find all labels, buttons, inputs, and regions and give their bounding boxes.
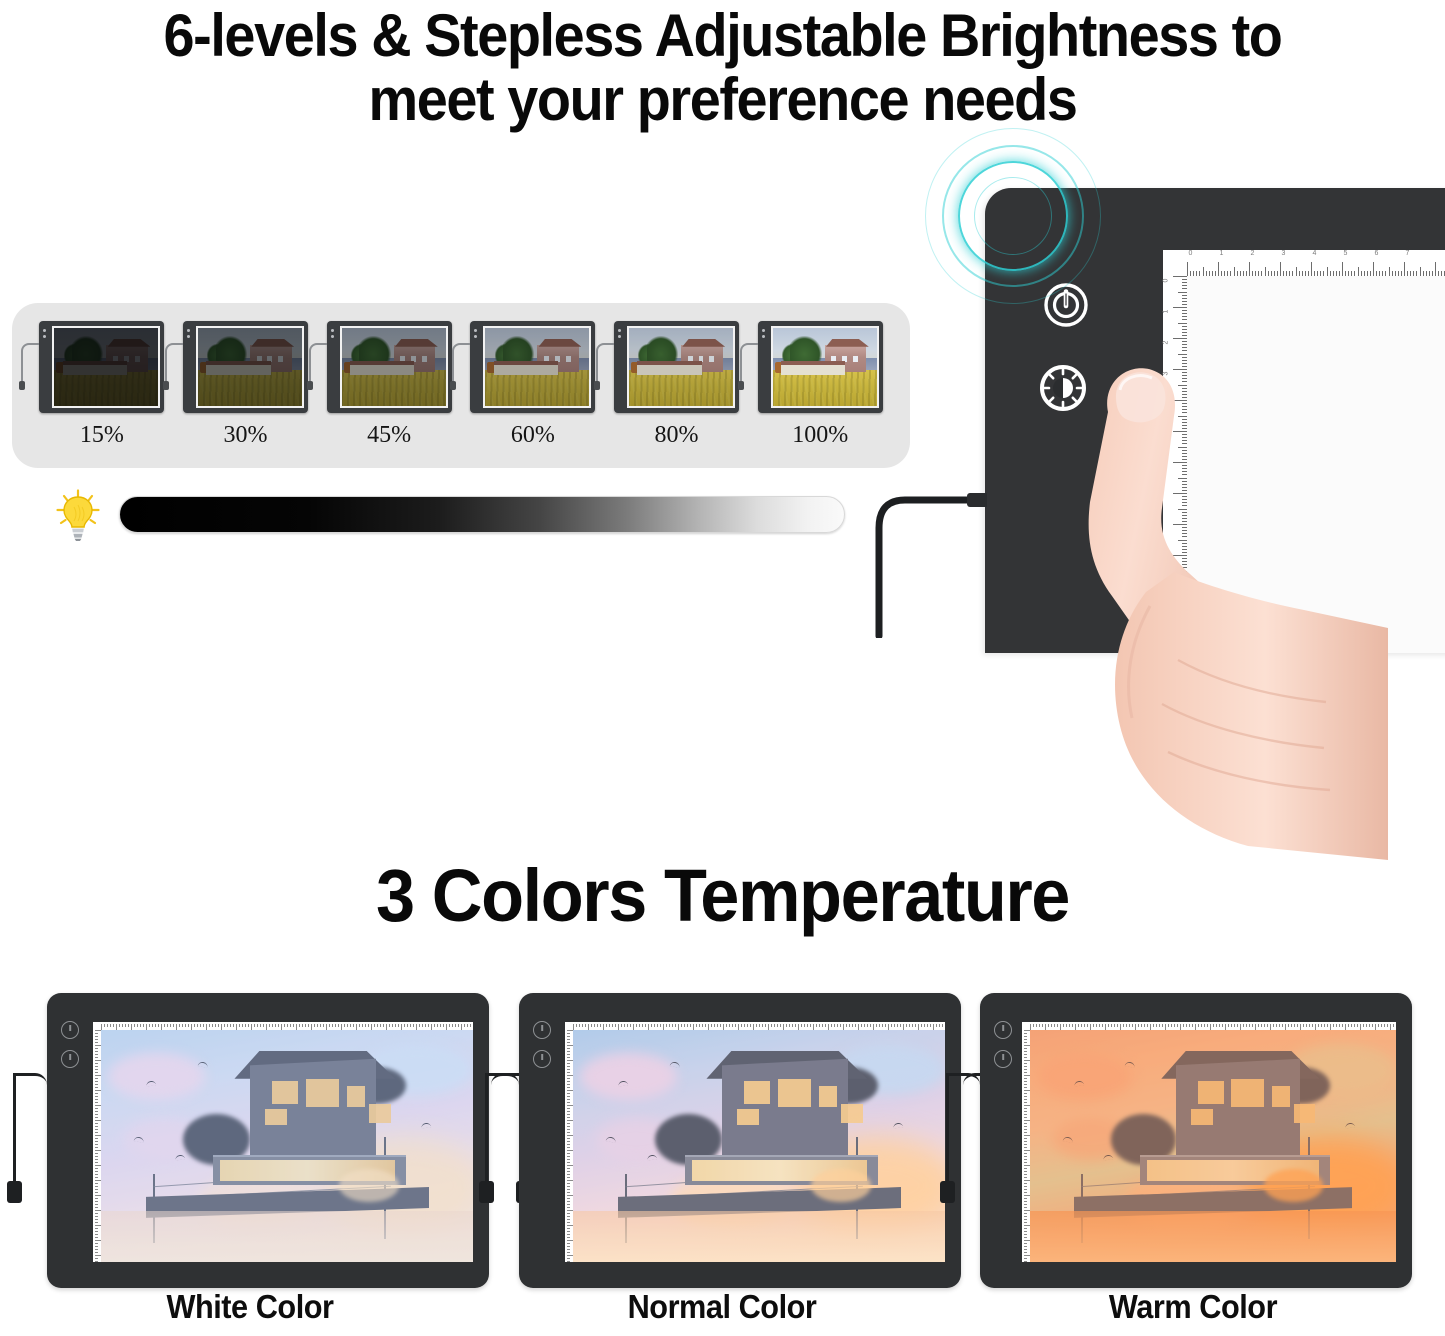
ruler-tick [729, 1024, 730, 1027]
ruler-tick [95, 1261, 98, 1262]
ruler-tick [1120, 1024, 1121, 1030]
ruler-tick [317, 1024, 318, 1027]
ruler-tick [687, 1024, 688, 1027]
ruler-tick [1373, 262, 1374, 276]
artwork-illustration [101, 1030, 473, 1262]
ruler-tick [95, 1120, 101, 1121]
ruler-tick [230, 1024, 231, 1027]
ruler-tick [1249, 1024, 1250, 1027]
ruler-tick [1075, 1024, 1076, 1030]
ruler-tick [206, 1024, 207, 1030]
ruler-tick [1382, 271, 1383, 276]
ruler-tick [1294, 1024, 1295, 1027]
ruler-tick [1024, 1072, 1027, 1073]
ruler-tick [200, 1024, 201, 1027]
ruler-tick [567, 1204, 570, 1205]
ruler-tick [567, 1246, 570, 1247]
ruler-tick [275, 1024, 276, 1027]
ruler-tick [1024, 1237, 1027, 1238]
ruler-tick [567, 1114, 570, 1115]
ruler-tick [678, 1024, 679, 1030]
ruler-tick [1111, 1024, 1112, 1027]
ruler-tick [1150, 1024, 1151, 1030]
hand-pointing [1058, 360, 1388, 860]
ruler-tick [182, 1024, 183, 1027]
ruler-tick [296, 1024, 297, 1030]
ruler-tick [299, 1024, 300, 1027]
ruler-tick [1147, 1024, 1148, 1027]
ruler-tick [1279, 1024, 1280, 1027]
ruler-tick [1045, 1024, 1046, 1030]
ruler-tick [1024, 1063, 1027, 1064]
ruler-tick [639, 1024, 640, 1027]
brightness-slider-row[interactable] [55, 487, 845, 542]
ruler-tick [458, 1024, 459, 1027]
ruler-tick [1024, 1261, 1027, 1262]
ruler-tick [768, 1024, 769, 1030]
ruler-tick [912, 1024, 913, 1027]
ruler-tick [1381, 1024, 1382, 1027]
ruler-tick [1024, 1075, 1030, 1076]
ruler-tick [95, 1141, 98, 1142]
ruler-tick [594, 1024, 595, 1027]
ruler-tick [1189, 1024, 1190, 1027]
ruler-tick [567, 1066, 570, 1067]
ruler-tick [567, 1132, 570, 1133]
mini-control-dots [187, 329, 190, 341]
ruler-tick [125, 1024, 126, 1027]
ruler-tick [185, 1024, 186, 1027]
ruler-tick [684, 1024, 685, 1027]
ruler-tick [567, 1258, 570, 1259]
ruler-tick [446, 1024, 447, 1030]
ruler-tick [1330, 271, 1331, 276]
ruler-tick [885, 1024, 886, 1027]
ruler-tick [567, 1243, 570, 1244]
ruler-tick [113, 1024, 114, 1027]
power-button-small[interactable] [994, 1050, 1012, 1068]
ruler-tick [828, 1024, 829, 1030]
ruler-tick [1024, 1120, 1030, 1121]
ruler-tick [618, 1024, 619, 1030]
ruler-tick [1219, 1024, 1220, 1027]
brightness-veil [485, 328, 589, 406]
ruler-tick [567, 1075, 573, 1076]
brightness-levels-card: 15%30%45%60%80%100% [12, 303, 910, 468]
ruler-tick [1336, 271, 1337, 276]
ruler-tick [1351, 271, 1352, 276]
ruler-tick [155, 1024, 156, 1027]
ruler-number: 0 [1162, 279, 1169, 283]
ruler-tick [852, 1024, 853, 1027]
ruler-tick [362, 1024, 363, 1027]
ruler-tick [615, 1024, 616, 1027]
ruler-tick [1318, 1024, 1319, 1027]
ruler-tick [1234, 267, 1235, 276]
ruler-tick [1273, 1024, 1274, 1027]
ruler-tick [1392, 271, 1393, 276]
ruler-tick [1024, 1066, 1027, 1067]
brightness-level-80: 80% [605, 321, 749, 448]
brightness-slider-track[interactable] [119, 496, 845, 533]
ruler-tick [95, 1198, 98, 1199]
ruler-tick [645, 1024, 646, 1027]
ruler-tick [1311, 262, 1312, 276]
ruler-tick [1222, 1024, 1223, 1027]
ruler-tick [1024, 1213, 1027, 1214]
brightness-button-small[interactable] [61, 1021, 79, 1039]
ruler-tick [95, 1249, 98, 1250]
ruler-tick [1274, 271, 1275, 276]
ruler-tick [191, 1024, 192, 1030]
ruler-tick [582, 1024, 583, 1027]
mini-cable-icon [596, 343, 614, 385]
ruler-tick [591, 1024, 592, 1027]
ruler-tick [891, 1024, 892, 1027]
ruler-tick [1345, 1024, 1346, 1030]
ruler-tick [1215, 271, 1216, 276]
ruler-tick [95, 1252, 98, 1253]
power-button-small[interactable] [533, 1050, 551, 1068]
ruler-tick [1024, 1144, 1027, 1145]
ruler-tick [1407, 271, 1408, 276]
ruler-tick [1183, 1024, 1184, 1027]
ruler-tick [1126, 1024, 1127, 1027]
ruler-tick [1182, 347, 1187, 348]
ruler-tick [762, 1024, 763, 1027]
ruler-tick [567, 1207, 570, 1208]
ruler-tick [443, 1024, 444, 1027]
ruler-tick [311, 1024, 312, 1030]
ruler-tick [377, 1024, 378, 1027]
ruler-tick [705, 1024, 706, 1027]
ruler-tick [95, 1180, 101, 1181]
ruler-tick [660, 1024, 661, 1027]
ruler-tick [1024, 1243, 1027, 1244]
ruler-tick [672, 1024, 673, 1027]
ruler-tick [428, 1024, 429, 1027]
ruler-tick [437, 1024, 438, 1027]
ruler-tick [693, 1024, 694, 1030]
ruler-tick [1321, 1024, 1322, 1027]
ruler-tick [137, 1024, 138, 1027]
mini-screen [196, 326, 304, 408]
tablet-buttons[interactable] [61, 1021, 79, 1079]
ruler-tick [630, 1024, 631, 1027]
ruler-tick [1108, 1024, 1109, 1027]
mini-cable-icon [165, 343, 183, 385]
ruler-tick [1389, 267, 1390, 276]
ruler-tick [95, 1177, 98, 1178]
ruler-tick [1306, 1024, 1307, 1027]
ruler-tick [1288, 1024, 1289, 1027]
color-temperature-label: Normal Color [503, 1288, 940, 1326]
ruler-tick [1237, 1024, 1238, 1027]
ruler-tick [567, 1198, 570, 1199]
ruler-tick [245, 1024, 246, 1027]
ruler-tick [1401, 271, 1402, 276]
ruler-tick [696, 1024, 697, 1027]
ruler-tick [567, 1117, 570, 1118]
ruler-tick [95, 1114, 98, 1115]
ruler-tick [395, 1024, 396, 1027]
ruler-tick [771, 1024, 772, 1027]
ruler-tick [567, 1060, 573, 1061]
color-temperature-panel-normal: Normal Color [487, 988, 957, 1336]
ruler-tick [567, 1039, 570, 1040]
ruler-tick [152, 1024, 153, 1027]
ruler-tick [1324, 1024, 1325, 1027]
ruler-tick [1354, 1024, 1355, 1027]
mini-screen [771, 326, 879, 408]
ruler-tick [627, 1024, 628, 1027]
ruler-tick [1429, 271, 1430, 276]
ruler-tick [600, 1024, 601, 1027]
ruler-tick [825, 1024, 826, 1027]
ruler-tick [95, 1066, 98, 1067]
ruler-tick [326, 1024, 327, 1030]
ruler-tick [1243, 1024, 1244, 1027]
ruler-tick [212, 1024, 213, 1027]
ruler-number: 3 [1282, 250, 1286, 257]
power-button-small[interactable] [61, 1050, 79, 1068]
ruler-tick [567, 1186, 570, 1187]
ruler-tick [1024, 1219, 1027, 1220]
ruler-tick [870, 1024, 871, 1027]
ruler-tick [1024, 1246, 1027, 1247]
brightness-veil [198, 328, 302, 406]
ruler-top: 01234567 [1163, 250, 1445, 276]
ruler-tick [1249, 262, 1250, 276]
ruler-tick [1024, 1225, 1030, 1226]
ruler-tick [1182, 282, 1187, 283]
color-temperature-label: Warm Color [974, 1288, 1411, 1326]
ruler-tick [1173, 276, 1187, 277]
ruler-tick [1048, 1024, 1049, 1027]
ruler-tick [567, 1108, 570, 1109]
ruler-tick [1024, 1090, 1030, 1091]
mini-light-pad [470, 321, 595, 413]
screen-ruler-left [93, 1022, 101, 1262]
ruler-tick [774, 1024, 775, 1027]
ruler-tick [1024, 1177, 1027, 1178]
tablet-buttons[interactable] [533, 1021, 551, 1079]
ruler-number: 6 [1375, 250, 1379, 257]
ruler-tick [131, 1024, 132, 1030]
ruler-tick [1186, 1024, 1187, 1027]
bird-icon [421, 1122, 432, 1128]
ruler-tick [567, 1123, 570, 1124]
ruler-tick [567, 1090, 573, 1091]
ruler-tick [1305, 271, 1306, 276]
ruler-tick [798, 1024, 799, 1030]
ruler-tick [567, 1219, 570, 1220]
ruler-tick [831, 1024, 832, 1027]
ruler-tick [383, 1024, 384, 1027]
ruler-tick [1114, 1024, 1115, 1027]
mini-light-pad [758, 321, 883, 413]
ruler-tick [302, 1024, 303, 1027]
ruler-tick [1024, 1111, 1027, 1112]
ruler-tick [942, 1024, 943, 1027]
ruler-tick [1024, 1096, 1027, 1097]
ruler-tick [909, 1024, 910, 1027]
ruler-tick [1024, 1033, 1027, 1034]
ruler-tick [819, 1024, 820, 1027]
ruler-tick [116, 1024, 117, 1030]
ruler-tick [1261, 1024, 1262, 1027]
ruler-tick [95, 1111, 98, 1112]
ruler-tick [95, 1117, 98, 1118]
ruler-tick [567, 1177, 570, 1178]
ruler-tick [95, 1240, 101, 1241]
ruler-number: 2 [1162, 341, 1169, 345]
ruler-tick [702, 1024, 703, 1027]
ruler-tick [1315, 1024, 1316, 1030]
page-title: 6-levels & Stepless Adjustable Brightnes… [51, 4, 1395, 132]
ruler-tick [1216, 1024, 1217, 1027]
ruler-tick [1168, 1024, 1169, 1027]
ruler-tick [347, 1024, 348, 1027]
ruler-tick [1182, 304, 1187, 305]
ruler-tick [1099, 1024, 1100, 1027]
ruler-tick [95, 1030, 101, 1031]
ruler-tick [1024, 1168, 1027, 1169]
color-temperature-row: White ColorNormal ColorWarm Color [0, 988, 1445, 1336]
ruler-tick [567, 1168, 570, 1169]
ruler-tick [1141, 1024, 1142, 1027]
ruler-tick [642, 1024, 643, 1027]
ruler-tick [1182, 335, 1187, 336]
ruler-tick [239, 1024, 240, 1027]
ruler-tick [1090, 1024, 1091, 1030]
ruler-tick [1024, 1165, 1030, 1166]
tablet-buttons[interactable] [994, 1021, 1012, 1079]
ruler-tick [567, 1051, 570, 1052]
ruler-tick [203, 1024, 204, 1027]
ruler-tick [1271, 271, 1272, 276]
ruler-tick [329, 1024, 330, 1027]
ruler-tick [1024, 1222, 1027, 1223]
ruler-tick [675, 1024, 676, 1027]
ruler-tick [834, 1024, 835, 1027]
ruler-tick [1123, 1024, 1124, 1027]
ruler-tick [567, 1126, 570, 1127]
ruler-tick [134, 1024, 135, 1027]
ruler-tick [1210, 1024, 1211, 1030]
artwork-illustration [1030, 1030, 1396, 1262]
ruler-tick [359, 1024, 360, 1027]
ruler-tick [104, 1024, 105, 1027]
ruler-tick [1339, 271, 1340, 276]
mini-screen [52, 326, 160, 408]
ruler-tick [1366, 1024, 1367, 1027]
ruler-tick [1416, 271, 1417, 276]
ruler-tick [1024, 1117, 1027, 1118]
ruler-tick [1024, 1156, 1027, 1157]
ruler-tick [95, 1171, 98, 1172]
ruler-tick [1303, 1024, 1304, 1027]
ruler-tick [95, 1258, 98, 1259]
ruler-tick [413, 1024, 414, 1027]
ruler-tick [1024, 1150, 1030, 1151]
ruler-tick [1156, 1024, 1157, 1027]
ruler-tick [1024, 1216, 1027, 1217]
ruler-tick [188, 1024, 189, 1027]
ruler-tick [1078, 1024, 1079, 1027]
ruler-tick [1173, 307, 1187, 308]
ruler-tick [1364, 271, 1365, 276]
ruler-tick [1282, 1024, 1283, 1027]
ruler-tick [567, 1222, 570, 1223]
brightness-veil [773, 328, 877, 406]
ruler-tick [1342, 1024, 1343, 1027]
tablet-screen [565, 1022, 945, 1262]
ruler-tick [567, 1195, 573, 1196]
ruler-tick [281, 1024, 282, 1030]
ruler-tick [1024, 1192, 1027, 1193]
ruler-tick [386, 1024, 387, 1030]
ruler-tick [1024, 1129, 1027, 1130]
ruler-tick [1404, 262, 1405, 276]
ruler-tick [1182, 344, 1187, 345]
ruler-tick [398, 1024, 399, 1027]
ruler-tick [1030, 1024, 1031, 1030]
ruler-tick [1213, 1024, 1214, 1027]
ruler-tick [936, 1024, 937, 1027]
ruler-tick [681, 1024, 682, 1027]
ruler-tick [1398, 271, 1399, 276]
ruler-tick [233, 1024, 234, 1027]
touch-ripple-glow [925, 128, 1101, 304]
brightness-button-small[interactable] [533, 1021, 551, 1039]
mini-screen [340, 326, 448, 408]
ruler-tick [1339, 1024, 1340, 1027]
ruler-tick [1024, 1126, 1027, 1127]
ruler-tick [95, 1255, 101, 1256]
ruler-tick [1024, 1231, 1027, 1232]
ruler-tick [1144, 1024, 1145, 1027]
ruler-tick [1413, 271, 1414, 276]
ruler-tick [621, 1024, 622, 1027]
ruler-tick [1024, 1195, 1030, 1196]
brightness-button-small[interactable] [994, 1021, 1012, 1039]
ruler-tick [95, 1093, 98, 1094]
light-pad-tablet [47, 993, 489, 1288]
ruler-tick [1102, 1024, 1103, 1027]
ruler-tick [1196, 271, 1197, 276]
ruler-tick [1285, 1024, 1286, 1030]
ruler-tick [612, 1024, 613, 1027]
ruler-tick [392, 1024, 393, 1027]
ruler-tick [167, 1024, 168, 1027]
ruler-tick [95, 1183, 98, 1184]
ruler-tick [756, 1024, 757, 1027]
ruler-tick [95, 1099, 98, 1100]
ruler-tick [1367, 271, 1368, 276]
ruler-tick [1182, 313, 1187, 314]
ruler-tick [1024, 1201, 1027, 1202]
ruler-tick [1024, 1189, 1027, 1190]
ruler-tick [567, 1165, 573, 1166]
ruler-tick [107, 1024, 108, 1027]
ruler-tick [1174, 1024, 1175, 1027]
ruler-tick [765, 1024, 766, 1027]
ruler-tick [95, 1150, 101, 1151]
ruler-tick [254, 1024, 255, 1027]
ruler-tick [597, 1024, 598, 1027]
ruler-tick [1024, 1162, 1027, 1163]
